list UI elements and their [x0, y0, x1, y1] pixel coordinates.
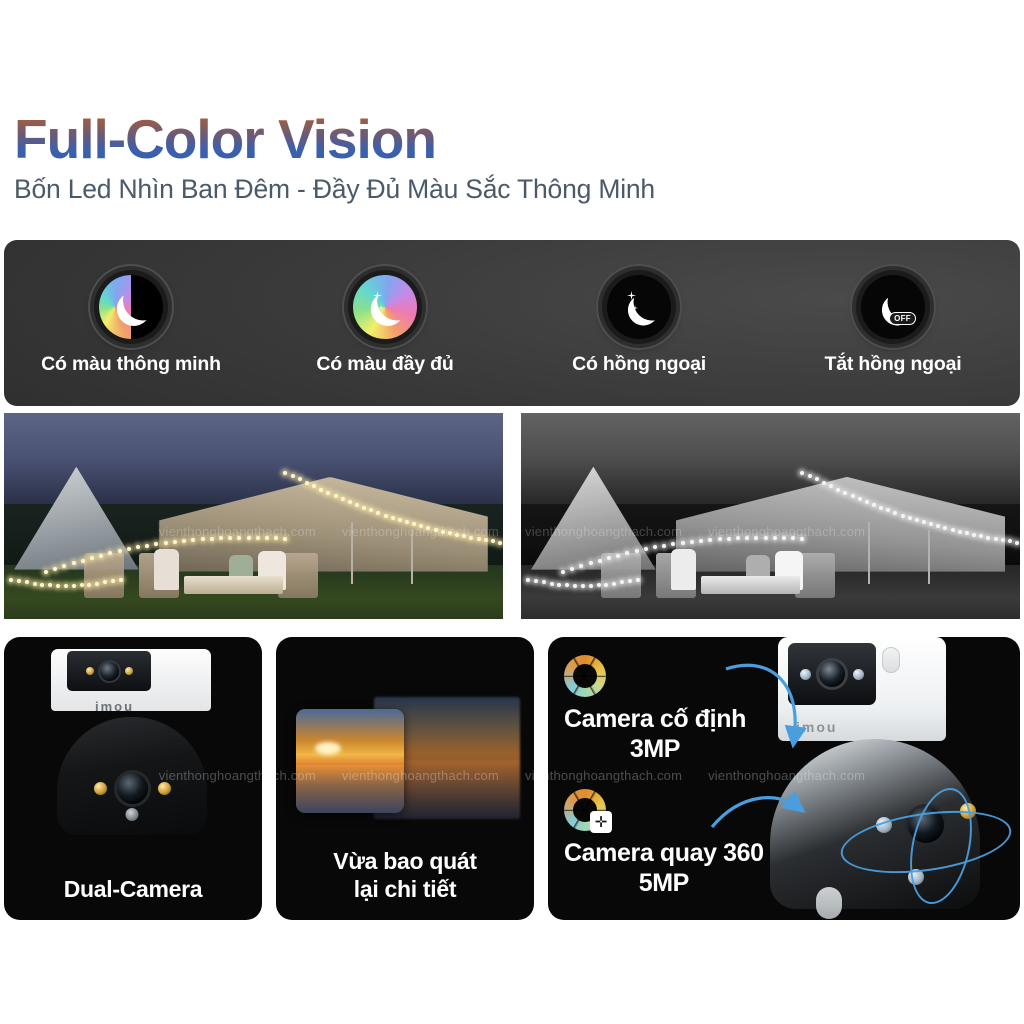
color-night-camping-photo: [4, 413, 503, 619]
feature-ptz-camera: ✛ Camera quay 360 5MP: [564, 789, 764, 898]
page-title: Full-Color Vision: [14, 112, 436, 167]
night-mode-item-infrared-off[interactable]: OFF Tắt hồng ngoại: [766, 270, 1020, 376]
night-mode-label: Có màu đầy đủ: [316, 353, 453, 376]
card-ptz-360[interactable]: imou Camera cố định 3MP: [548, 637, 1020, 920]
feature-fixed-camera: Camera cố định 3MP: [564, 655, 746, 764]
string-lights: [4, 413, 503, 619]
imou-dual-lens-camera-photo: imou: [33, 643, 233, 843]
page-subtitle: Bốn Led Nhìn Ban Đêm - Đầy Đủ Màu Sắc Th…: [14, 175, 1024, 204]
imou-logo: imou: [95, 699, 134, 714]
moon-stars-icon: [602, 270, 676, 344]
card-label: Vừa bao quát lại chi tiết: [276, 847, 534, 905]
night-mode-item-infrared-on[interactable]: Có hồng ngoại: [512, 270, 766, 376]
half-rainbow-moon-icon: [94, 270, 168, 344]
night-mode-item-full-color[interactable]: Có màu đầy đủ: [258, 270, 512, 376]
pan-tilt-badge-icon: ✛: [590, 811, 612, 833]
comparison-band: [4, 413, 1020, 619]
moon-off-icon: OFF: [856, 270, 930, 344]
black-white-night-camping-photo: [521, 413, 1020, 619]
night-mode-label: Tắt hồng ngoại: [825, 353, 962, 376]
night-mode-label: Có hồng ngoại: [572, 353, 706, 376]
header: Full-Color Vision Bốn Led Nhìn Ban Đêm -…: [0, 0, 1024, 204]
full-rainbow-moon-icon: [348, 270, 422, 344]
card-dual-camera[interactable]: imou Dual-Camera: [4, 637, 262, 920]
card-label: Dual-Camera: [4, 875, 262, 904]
off-badge: OFF: [889, 312, 916, 325]
feature-cards: imou Dual-Camera Vừa bao quát lại chi ti…: [4, 637, 1020, 920]
night-mode-item-smart-color[interactable]: Có màu thông minh: [4, 270, 258, 376]
aperture-icon: [564, 655, 606, 697]
card-wide-and-detail[interactable]: Vừa bao quát lại chi tiết: [276, 637, 534, 920]
string-lights: [521, 413, 1020, 619]
split-sunset-view-photo: [290, 687, 528, 837]
night-mode-strip: Có màu thông minh Có màu đầy đủ Có hồng …: [4, 240, 1020, 406]
night-mode-label: Có màu thông minh: [41, 353, 221, 376]
